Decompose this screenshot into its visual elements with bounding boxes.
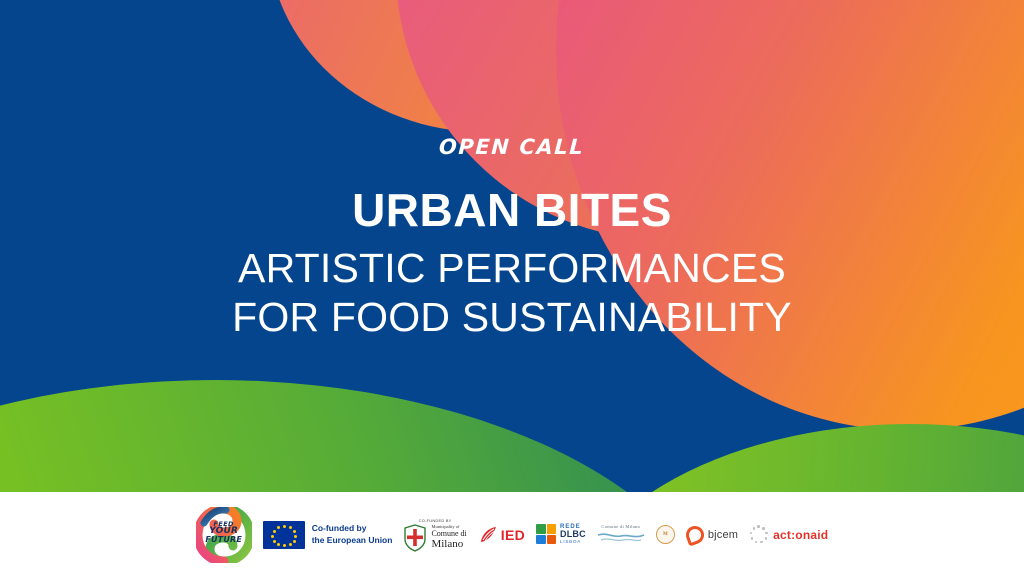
dlbc-wordmark: REDE DLBC LISBOA — [560, 524, 586, 545]
kicker-label: OPEN CALL — [439, 135, 586, 159]
logo-comune-wave: Comune di Milano — [597, 524, 645, 545]
logo-bjcem: bjcem — [686, 526, 738, 544]
logo-medallion: M — [656, 525, 675, 544]
subtitle-line-1: ARTISTIC PERFORMANCES — [232, 244, 792, 292]
headline-block: OPEN CALL URBAN BITES ARTISTIC PERFORMAN… — [0, 0, 1024, 492]
ied-mark-icon — [478, 526, 498, 544]
page-title: URBAN BITES — [352, 185, 672, 237]
milano-wordmark: Municipality of Comune di Milano — [431, 524, 466, 551]
ied-wordmark: IED — [501, 527, 525, 543]
logo-european-union: Co-funded by the European Union — [263, 521, 393, 549]
wave-icon — [597, 531, 645, 545]
logo-comune-di-milano: CO-FUNDED BY Municipality of Comune di M… — [403, 518, 466, 552]
actionaid-wordmark: act:onaid — [773, 528, 828, 542]
poster-root: OPEN CALL URBAN BITES ARTISTIC PERFORMAN… — [0, 0, 1024, 577]
bjcem-wordmark: bjcem — [708, 529, 738, 541]
logo-ied: IED — [478, 526, 525, 544]
medallion-icon: M — [656, 525, 675, 544]
feed-your-future-wordmark: FEED YOUR FUTURE — [202, 521, 246, 545]
logo-actionaid: act:onaid — [749, 525, 828, 544]
bjcem-mark-icon — [683, 523, 706, 546]
dlbc-grid-icon — [536, 524, 556, 544]
actionaid-mark-icon — [749, 525, 768, 544]
milano-top-label: CO-FUNDED BY — [419, 518, 452, 523]
subtitle-line-2: FOR FOOD SUSTAINABILITY — [232, 293, 792, 341]
eu-flag-icon — [263, 521, 305, 549]
logo-feed-your-future: FEED YOUR FUTURE — [196, 507, 252, 563]
page-subtitle: ARTISTIC PERFORMANCES FOR FOOD SUSTAINAB… — [232, 244, 792, 341]
footer-logo-strip: FEED YOUR FUTURE — [0, 492, 1024, 577]
eu-funding-label: Co-funded by the European Union — [312, 523, 393, 546]
comune-wave-label: Comune di Milano — [601, 524, 640, 529]
logo-rede-dlbc-lisboa: REDE DLBC LISBOA — [536, 524, 586, 545]
milano-crest-icon — [403, 524, 427, 552]
